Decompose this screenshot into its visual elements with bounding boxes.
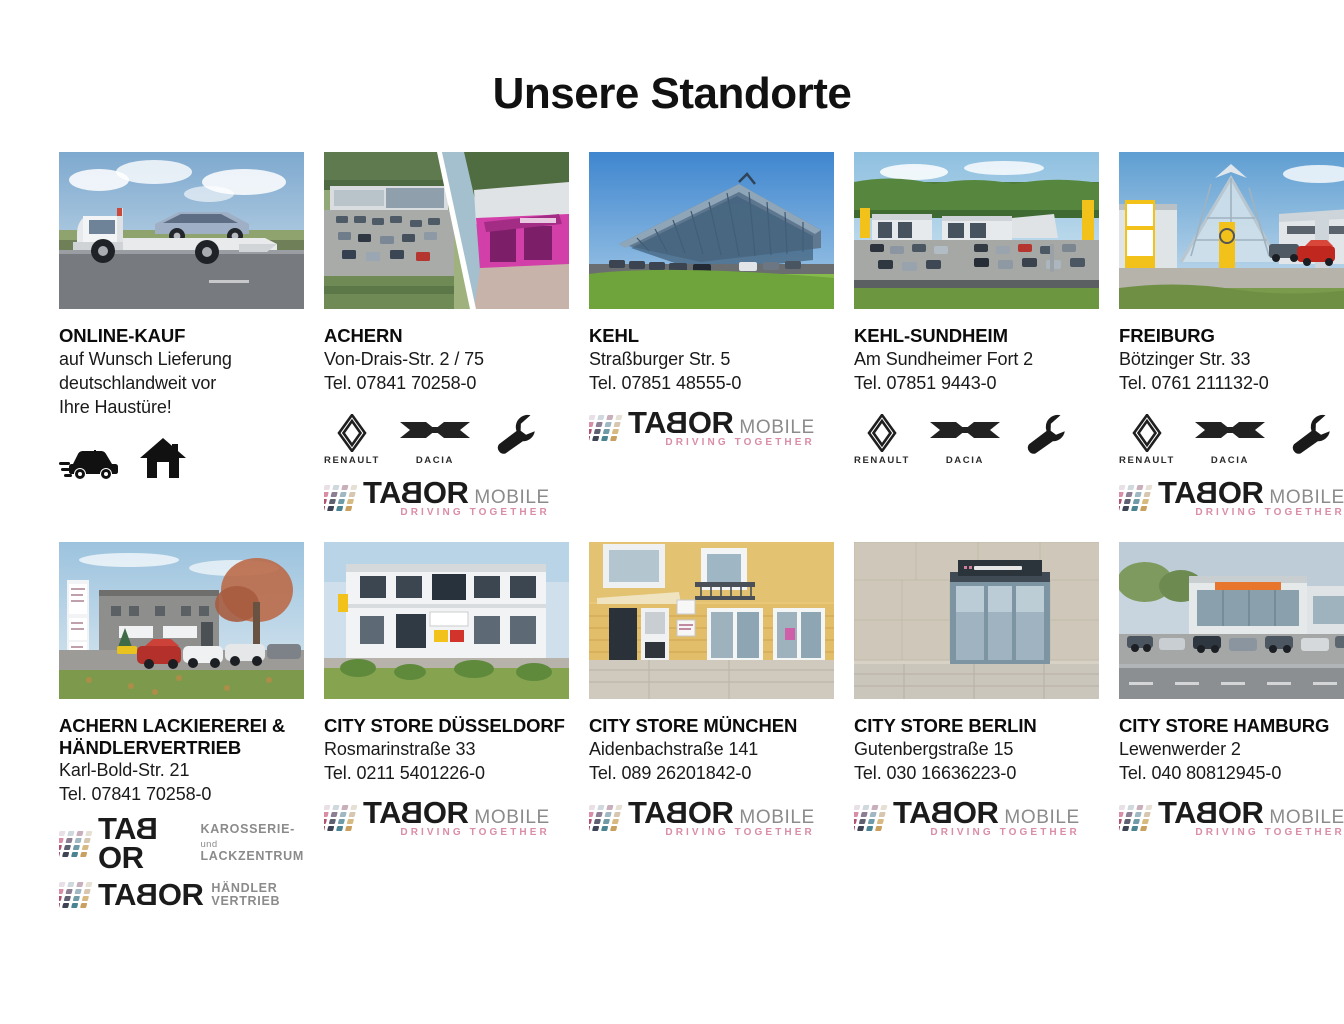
location-address-line: Tel. 089 26201842-0: [589, 762, 834, 786]
location-thumbnail-online-kauf: [59, 152, 304, 309]
location-card-city-store-berlin[interactable]: CITY STORE BERLIN Gutenbergstraße 15 Tel…: [854, 542, 1119, 932]
renault-logo: RENAULT: [854, 414, 910, 466]
tabor-mobile-label: MOBILE: [1004, 807, 1079, 829]
house-icon: [139, 436, 187, 485]
tabor-haendler-logo: TABOR HÄNDLER VERTRIEB: [59, 880, 304, 910]
tabor-mobile-logo: TABOR MOBILE DRIVING TOGETHER: [589, 409, 834, 448]
location-name: CITY STORE MÜNCHEN: [589, 715, 834, 737]
caption-line-2: LACKZENTRUM: [200, 849, 304, 863]
location-address-line: Tel. 040 80812945-0: [1119, 762, 1344, 786]
location-address: Von-Drais-Str. 2 / 75 Tel. 07841 70258-0: [324, 348, 569, 396]
location-address-line: Aidenbachstraße 141: [589, 738, 834, 762]
tabor-dots-icon: [589, 413, 625, 443]
location-address-line: deutschlandweit vor: [59, 372, 304, 396]
location-address-line: Tel. 07851 9443-0: [854, 372, 1099, 396]
tabor-wordmark: TABOR: [1158, 479, 1263, 508]
tabor-wordmark: TABOR: [98, 815, 192, 872]
location-card-online-kauf[interactable]: ONLINE-KAUF auf Wunsch Lieferung deutsch…: [59, 152, 324, 542]
tabor-mobile-label: MOBILE: [1269, 487, 1344, 509]
renault-label: RENAULT: [1119, 455, 1175, 466]
tabor-sub-brand-logos: TABOR KAROSSERIE-und LACKZENTRUM: [59, 815, 304, 910]
location-card-city-store-muenchen[interactable]: CITY STORE MÜNCHEN Aidenbachstraße 141 T…: [589, 542, 854, 932]
renault-label: RENAULT: [324, 455, 380, 466]
location-card-city-store-duesseldorf[interactable]: CITY STORE DÜSSELDORF Rosmarinstraße 33 …: [324, 542, 589, 932]
brand-logos: RENAULT DACIA: [1119, 410, 1344, 466]
dacia-label: DACIA: [416, 455, 454, 466]
location-address-line: Tel. 07851 48555-0: [589, 372, 834, 396]
tabor-wordmark: TABOR: [628, 799, 733, 828]
location-name: FREIBURG: [1119, 325, 1344, 347]
location-address-line: Tel. 0211 5401226-0: [324, 762, 569, 786]
brand-logos: RENAULT DACIA: [324, 410, 569, 466]
locations-grid: ONLINE-KAUF auf Wunsch Lieferung deutsch…: [27, 152, 1317, 932]
location-name: CITY STORE DÜSSELDORF: [324, 715, 569, 737]
location-address-line: Straßburger Str. 5: [589, 348, 834, 372]
location-address: Karl-Bold-Str. 21 Tel. 07841 70258-0: [59, 759, 304, 807]
location-card-kehl[interactable]: KEHL Straßburger Str. 5 Tel. 07851 48555…: [589, 152, 854, 542]
renault-logo: RENAULT: [324, 414, 380, 466]
tabor-dots-icon: [1119, 483, 1155, 513]
tabor-dots-icon: [1119, 803, 1155, 833]
dacia-logo: DACIA: [398, 418, 472, 466]
location-card-kehl-sundheim[interactable]: KEHL-SUNDHEIM Am Sundheimer Fort 2 Tel. …: [854, 152, 1119, 542]
wrench-icon: [496, 411, 536, 462]
caption-line-1-small: und: [200, 839, 217, 850]
location-address: auf Wunsch Lieferung deutschlandweit vor…: [59, 348, 304, 420]
tabor-dots-icon: [59, 880, 95, 910]
caption-line-1: HÄNDLER: [211, 881, 277, 895]
location-thumbnail-kehl-sundheim: [854, 152, 1099, 309]
wrench-icon: [1026, 411, 1066, 462]
location-address-line: Tel. 030 16636223-0: [854, 762, 1099, 786]
location-card-city-store-hamburg[interactable]: CITY STORE HAMBURG Lewenwerder 2 Tel. 04…: [1119, 542, 1344, 932]
tabor-dots-icon: [324, 483, 360, 513]
location-address: Aidenbachstraße 141 Tel. 089 26201842-0: [589, 738, 834, 786]
dacia-label: DACIA: [1211, 455, 1249, 466]
service-icons: [59, 437, 304, 485]
location-name: ACHERN LACKIEREREI & HÄNDLERVERTRIEB: [59, 715, 304, 758]
tabor-wordmark: TABOR: [363, 479, 468, 508]
tabor-dots-icon: [854, 803, 890, 833]
location-thumbnail-freiburg: [1119, 152, 1344, 309]
location-address: Am Sundheimer Fort 2 Tel. 07851 9443-0: [854, 348, 1099, 396]
caption-line-1: KAROSSERIE-: [200, 822, 295, 836]
tabor-mobile-label: MOBILE: [474, 487, 549, 509]
location-name: ACHERN: [324, 325, 569, 347]
location-address: Lewenwerder 2 Tel. 040 80812945-0: [1119, 738, 1344, 786]
dacia-logo: DACIA: [928, 418, 1002, 466]
tabor-dots-icon: [589, 803, 625, 833]
renault-label: RENAULT: [854, 455, 910, 466]
location-address: Rosmarinstraße 33 Tel. 0211 5401226-0: [324, 738, 569, 786]
location-address-line: Bötzinger Str. 33: [1119, 348, 1344, 372]
locations-page: Unsere Standorte: [0, 0, 1344, 1024]
location-card-achern-lackiererei[interactable]: ACHERN LACKIEREREI & HÄNDLERVERTRIEB Kar…: [59, 542, 324, 932]
tabor-mobile-label: MOBILE: [739, 417, 814, 439]
brand-logos: RENAULT DACIA: [854, 410, 1099, 466]
location-thumbnail-duesseldorf: [324, 542, 569, 699]
location-address-line: Karl-Bold-Str. 21: [59, 759, 304, 783]
tabor-karosserie-logo: TABOR KAROSSERIE-und LACKZENTRUM: [59, 815, 304, 872]
location-name: CITY STORE BERLIN: [854, 715, 1099, 737]
tabor-wordmark: TABOR: [628, 409, 733, 438]
car-icon: [59, 440, 121, 485]
tabor-karosserie-caption: KAROSSERIE-und LACKZENTRUM: [200, 823, 304, 864]
location-address: Straßburger Str. 5 Tel. 07851 48555-0: [589, 348, 834, 396]
wrench-icon: [1291, 411, 1331, 462]
tabor-dots-icon: [324, 803, 360, 833]
location-address-line: auf Wunsch Lieferung: [59, 348, 304, 372]
location-thumbnail-kehl: [589, 152, 834, 309]
location-thumbnail-berlin: [854, 542, 1099, 699]
tabor-mobile-logo: TABOR MOBILE DRIVING TOGETHER: [324, 799, 569, 838]
tabor-wordmark: TABOR: [98, 881, 203, 910]
location-thumbnail-achern-lackiererei: [59, 542, 304, 699]
tabor-mobile-label: MOBILE: [474, 807, 549, 829]
tabor-mobile-logo: TABOR MOBILE DRIVING TOGETHER: [589, 799, 834, 838]
location-address: Bötzinger Str. 33 Tel. 0761 211132-0: [1119, 348, 1344, 396]
tabor-mobile-logo: TABOR MOBILE DRIVING TOGETHER: [1119, 799, 1344, 838]
caption-line-2: VERTRIEB: [211, 894, 280, 908]
tabor-mobile-label: MOBILE: [1269, 807, 1344, 829]
location-thumbnail-muenchen: [589, 542, 834, 699]
tabor-mobile-logo: TABOR MOBILE DRIVING TOGETHER: [1119, 479, 1344, 518]
tabor-wordmark: TABOR: [363, 799, 468, 828]
page-title: Unsere Standorte: [0, 0, 1344, 116]
dacia-logo: DACIA: [1193, 418, 1267, 466]
location-address-line: Tel. 07841 70258-0: [59, 783, 304, 807]
tabor-wordmark: TABOR: [893, 799, 998, 828]
location-name: KEHL-SUNDHEIM: [854, 325, 1099, 347]
location-address: Gutenbergstraße 15 Tel. 030 16636223-0: [854, 738, 1099, 786]
location-thumbnail-achern: [324, 152, 569, 309]
dacia-label: DACIA: [946, 455, 984, 466]
renault-logo: RENAULT: [1119, 414, 1175, 466]
tabor-mobile-label: MOBILE: [739, 807, 814, 829]
location-name: ONLINE-KAUF: [59, 325, 304, 347]
tabor-wordmark: TABOR: [1158, 799, 1263, 828]
tabor-mobile-logo: TABOR MOBILE DRIVING TOGETHER: [324, 479, 569, 518]
location-address-line: Lewenwerder 2: [1119, 738, 1344, 762]
location-card-achern[interactable]: ACHERN Von-Drais-Str. 2 / 75 Tel. 07841 …: [324, 152, 589, 542]
location-thumbnail-hamburg: [1119, 542, 1344, 699]
tabor-dots-icon: [59, 829, 95, 859]
tabor-haendler-caption: HÄNDLER VERTRIEB: [211, 882, 280, 909]
location-name: KEHL: [589, 325, 834, 347]
location-address-line: Ihre Haustüre!: [59, 396, 304, 420]
location-address-line: Tel. 0761 211132-0: [1119, 372, 1344, 396]
location-address-line: Am Sundheimer Fort 2: [854, 348, 1099, 372]
tabor-mobile-logo: TABOR MOBILE DRIVING TOGETHER: [854, 799, 1099, 838]
location-address-line: Gutenbergstraße 15: [854, 738, 1099, 762]
location-name: CITY STORE HAMBURG: [1119, 715, 1344, 737]
location-address-line: Tel. 07841 70258-0: [324, 372, 569, 396]
location-address-line: Von-Drais-Str. 2 / 75: [324, 348, 569, 372]
location-address-line: Rosmarinstraße 33: [324, 738, 569, 762]
location-card-freiburg[interactable]: FREIBURG Bötzinger Str. 33 Tel. 0761 211…: [1119, 152, 1344, 542]
